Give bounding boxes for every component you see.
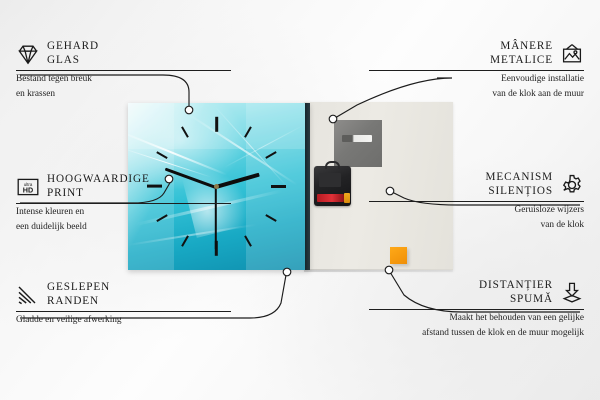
- callout-body-line2: van de klok: [369, 220, 584, 232]
- callout-divider: [16, 203, 231, 204]
- aa-battery: [317, 194, 344, 202]
- feature-callout-foam-spacer: DISTANȚIER SPUMĂ Maakt het behouden van …: [369, 279, 584, 339]
- feature-callout-metal-handles: MÂNERE METALICE Eenvoudige installatie v…: [369, 40, 584, 100]
- diagonal-lines-icon: [16, 283, 40, 307]
- callout-body-line2: een duidelijk beeld: [16, 222, 231, 234]
- feature-callout-high-quality-print: ultra HD HOOGWAARDIGE PRINT Intense kleu…: [16, 173, 231, 233]
- callout-title-line1: HOOGWAARDIGE: [47, 173, 150, 187]
- feature-callout-tempered-glass: GEHARD GLAS Bestand tegen breuk en krass…: [16, 40, 231, 100]
- clock-tick-mark: [215, 117, 218, 132]
- callout-title-line1: MÂNERE: [490, 40, 553, 54]
- callout-title-line1: MECANISM: [486, 171, 554, 185]
- callout-body-line1: Intense kleuren en: [16, 207, 231, 219]
- callout-body-line1: Maakt het behouden van een gelijke: [369, 313, 584, 325]
- callout-title-line1: GEHARD: [47, 40, 99, 54]
- feature-callout-ground-edges: GESLEPEN RANDEN Gladde en veilige afwerk…: [16, 281, 231, 327]
- callout-title-line1: DISTANȚIER: [479, 279, 553, 293]
- battery-terminal: [344, 193, 350, 203]
- callout-body-line1: Eenvoudige installatie: [369, 74, 584, 86]
- mechanism-panel: [319, 173, 341, 187]
- diamond-icon: [16, 42, 40, 66]
- quartz-clock-mechanism: [314, 166, 351, 206]
- metal-hanger-plate: [334, 120, 382, 167]
- infographic-canvas: GEHARD GLAS Bestand tegen breuk en krass…: [0, 0, 600, 400]
- orange-foam-spacer: [390, 247, 407, 264]
- callout-divider: [369, 201, 584, 202]
- feature-callout-silent-mechanism: MECANISM SILENȚIOS Geruisloze wijzers va…: [369, 171, 584, 231]
- callout-title-line2: SILENȚIOS: [486, 185, 554, 199]
- callout-title-line2: METALICE: [490, 54, 553, 68]
- mechanism-hanging-loop: [325, 161, 340, 169]
- callout-divider: [16, 70, 231, 71]
- clock-glass-edge: [305, 103, 310, 270]
- callout-title-line2: GLAS: [47, 54, 99, 68]
- callout-divider: [369, 70, 584, 71]
- callout-title-line1: GESLEPEN: [47, 281, 110, 295]
- callout-title-line2: SPUMĂ: [479, 293, 553, 307]
- callout-body-line2: afstand tussen de klok en de muur mogeli…: [369, 328, 584, 340]
- svg-text:HD: HD: [23, 185, 33, 194]
- callout-body-line1: Geruisloze wijzers: [369, 205, 584, 217]
- hanger-slot: [342, 135, 372, 142]
- callout-body-line1: Bestand tegen breuk: [16, 74, 231, 86]
- callout-body-line1: Gladde en veilige afwerking: [16, 315, 231, 327]
- ultra-hd-icon: ultra HD: [16, 175, 40, 199]
- down-arrow-onto-surface-icon: [560, 281, 584, 305]
- callout-body-line2: en krassen: [16, 89, 231, 101]
- callout-body-line2: van de klok aan de muur: [369, 89, 584, 101]
- hanging-picture-icon: [560, 42, 584, 66]
- clock-tick-mark: [271, 185, 286, 188]
- gear-icon: [560, 173, 584, 197]
- callout-title-line2: PRINT: [47, 187, 150, 201]
- callout-divider: [16, 311, 231, 312]
- callout-title-line2: RANDEN: [47, 295, 110, 309]
- callout-divider: [369, 309, 584, 310]
